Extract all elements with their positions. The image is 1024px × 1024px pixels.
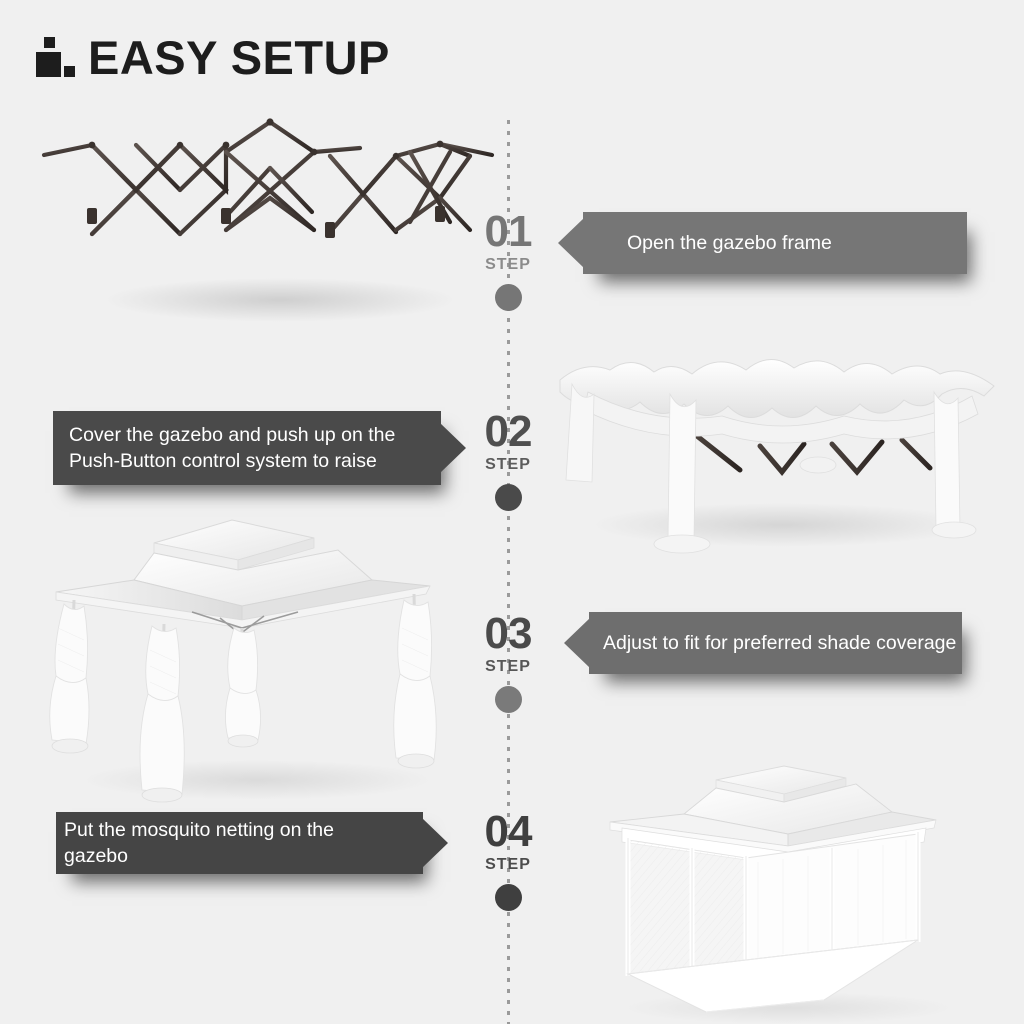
gazebo-frame-photo — [30, 112, 500, 327]
callout-text-02-line2: Push-Button control system to raise — [69, 450, 377, 472]
callout-arrow-left-icon — [558, 218, 584, 268]
step-number-01: 01 — [438, 210, 578, 254]
callout-text-01: Open the gazebo frame — [627, 230, 967, 256]
step-label-04: STEP — [438, 856, 578, 874]
step-number-03: 03 — [438, 612, 578, 656]
step-label-01: STEP — [438, 256, 578, 274]
callout-arrow-left-icon — [564, 618, 590, 668]
callout-arrow-right-icon — [440, 423, 466, 473]
callout-step-03[interactable]: Adjust to fit for preferred shade covera… — [589, 612, 962, 674]
gazebo-assembled-photo — [42, 508, 462, 808]
callout-text-03: Adjust to fit for preferred shade covera… — [603, 630, 962, 656]
page-title-row: EASY SETUP — [36, 34, 390, 81]
step-marker-04: 04 STEP — [438, 810, 578, 911]
step-number-04: 04 — [438, 810, 578, 854]
callout-step-02[interactable]: Cover the gazebo and push up on the Push… — [53, 411, 441, 485]
callout-text-02: Cover the gazebo and push up on the Push… — [69, 422, 401, 475]
callout-step-01[interactable]: Open the gazebo frame — [583, 212, 967, 274]
step-dot-01 — [495, 284, 522, 311]
step-label-03: STEP — [438, 658, 578, 676]
gazebo-canopy-photo — [532, 340, 1004, 570]
step-dot-02 — [495, 484, 522, 511]
step-dot-03 — [495, 686, 522, 713]
callout-text-04: Put the mosquito netting on the gazebo — [64, 817, 387, 870]
callout-arrow-right-icon — [422, 818, 448, 868]
step-dot-04 — [495, 884, 522, 911]
page-title: EASY SETUP — [88, 34, 390, 81]
gazebo-netting-photo — [588, 762, 988, 1024]
three-squares-icon — [36, 36, 72, 80]
callout-text-02-line1: Cover the gazebo and push up on the — [69, 424, 395, 446]
step-marker-01: 01 STEP — [438, 210, 578, 311]
step-marker-03: 03 STEP — [438, 612, 578, 713]
callout-step-04[interactable]: Put the mosquito netting on the gazebo — [56, 812, 423, 874]
infographic-page: EASY SETUP — [0, 0, 1024, 1024]
